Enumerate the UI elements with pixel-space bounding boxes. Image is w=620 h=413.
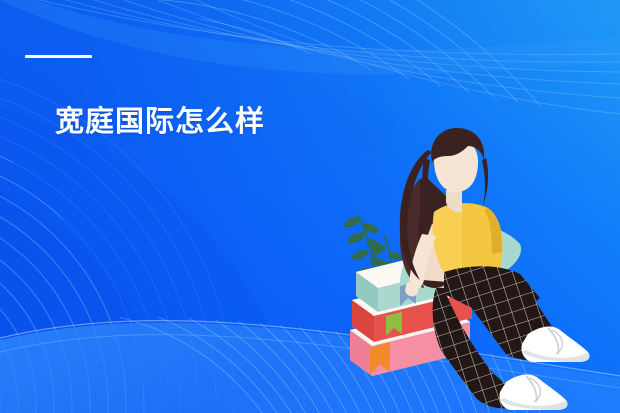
promo-banner: 宽庭国际怎么样 — [0, 0, 620, 413]
banner-content: 宽庭国际怎么样 — [0, 0, 620, 413]
page-title: 宽庭国际怎么样 — [55, 104, 265, 140]
title-accent-rule — [25, 55, 92, 58]
